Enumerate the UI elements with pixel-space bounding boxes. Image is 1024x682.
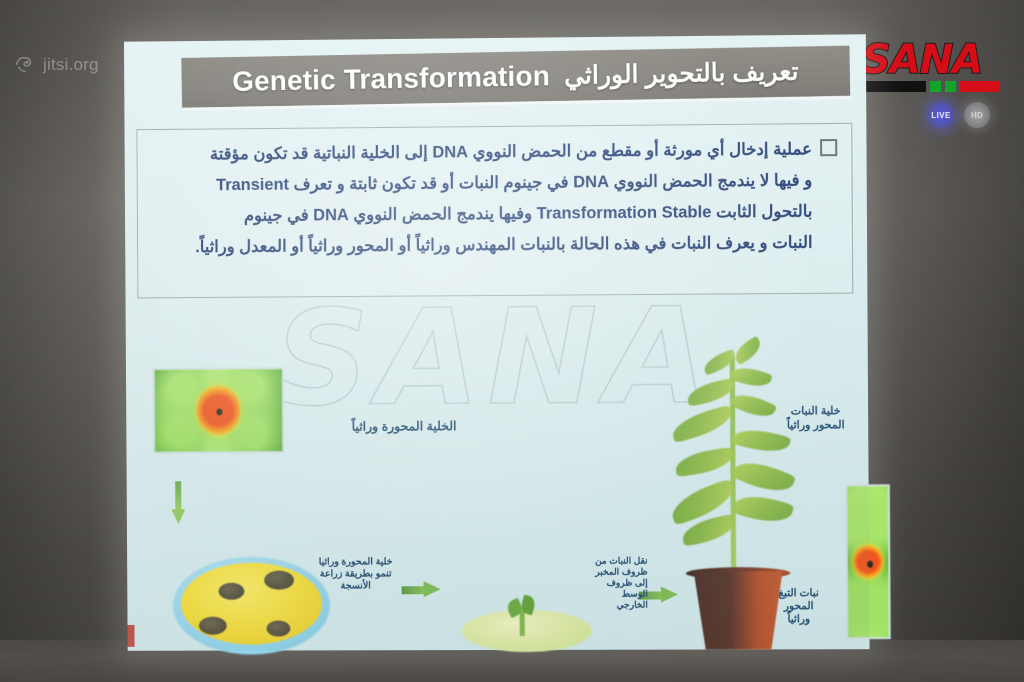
cell-nucleus (853, 545, 883, 579)
transfer-line-2: ظروف المخبر (565, 567, 647, 578)
transfer-line-5: الخارجي (566, 600, 648, 611)
plant-leaf (731, 454, 796, 499)
jitsi-watermark: jitsi.org (14, 54, 99, 76)
plant-cell-micrograph-icon (153, 367, 281, 449)
plant-leaf (731, 336, 765, 366)
label-tobacco-plant: نبات التبغ المحور وراثياً (756, 587, 841, 626)
body-line-3: بالتحول الثابت Transformation Stable وفي… (148, 196, 813, 232)
projector-room-photo: jitsi.org SANA LIVE HD Genetic Transform… (0, 0, 1024, 682)
tobacco-line-1: نبات التبغ (756, 587, 841, 600)
label-plant-cell: خلية النبات المحور وراثياً (765, 404, 866, 433)
sana-logo-wordmark: SANA (862, 40, 1014, 80)
hd-badge: HD (964, 102, 990, 128)
logo-bar-black (862, 81, 926, 92)
plant-leaf (669, 405, 735, 444)
callus-spot (266, 621, 290, 637)
arrow-right-icon (402, 582, 442, 597)
slide-title-english: Genetic Transformation (232, 60, 550, 98)
stream-badges: LIVE HD (928, 102, 990, 128)
cell-nucleus (196, 385, 240, 435)
cell-body (153, 367, 285, 453)
slide-title-arabic: تعريف بالتحوير الوراثي (564, 57, 799, 91)
plant-cell-micrograph-icon (845, 484, 886, 635)
transfer-line-3: إلى ظروف (565, 578, 647, 589)
plant-cell-line-1: خلية النبات (765, 404, 866, 419)
plant-leaf (685, 378, 736, 407)
live-badge: LIVE (928, 102, 954, 128)
callus-spot (218, 583, 244, 600)
jitsi-watermark-label: jitsi.org (43, 55, 99, 75)
callus-mass (462, 610, 592, 652)
plant-leaf (729, 363, 773, 391)
tobacco-line-3: وراثياً (756, 613, 841, 626)
slide-body-textbox: عملية إدخال أي مورثة أو مقطع من الحمض ال… (136, 123, 853, 299)
tissue-culture-line-2: تنمو بطريقة زراعة (286, 568, 426, 580)
tobacco-line-2: المحور (756, 600, 841, 613)
sana-logo-bars (862, 81, 1014, 92)
label-transformed-cell: الخلية المحورة وراثياً (297, 420, 457, 434)
body-line-4: النبات و يعرف النبات في هذه الحالة بالنب… (148, 228, 813, 264)
logo-bar-green-1 (930, 81, 941, 92)
slide-title-bar: Genetic Transformation تعريف بالتحوير ال… (181, 46, 850, 111)
square-bullet-icon (820, 139, 837, 156)
logo-bar-red (960, 81, 999, 92)
slide-body-text: عملية إدخال أي مورثة أو مقطع من الحمض ال… (147, 134, 813, 289)
transfer-line-1: نقل النبات من (565, 555, 647, 566)
projected-slide: Genetic Transformation تعريف بالتحوير ال… (124, 34, 870, 651)
plant-leaf (674, 447, 735, 477)
plant-leaf (732, 489, 795, 528)
transformation-diagram: الخلية المحورة وراثياً خلية المحورة وراث… (125, 285, 869, 650)
jitsi-logo-icon (14, 54, 36, 76)
sana-channel-logo: SANA (862, 40, 1014, 100)
callus-spot (199, 617, 227, 635)
label-transfer-to-soil: نقل النبات من ظروف المخبر إلى ظروف الوسط… (565, 555, 648, 610)
transfer-line-4: الوسط (566, 589, 648, 600)
cell-body (845, 484, 890, 639)
arrow-down-icon (173, 481, 183, 525)
logo-bar-green-2 (945, 81, 956, 92)
plant-cell-line-2: المحور وراثياً (765, 418, 866, 433)
tissue-culture-line-1: خلية المحورة وراثيا (286, 556, 426, 568)
